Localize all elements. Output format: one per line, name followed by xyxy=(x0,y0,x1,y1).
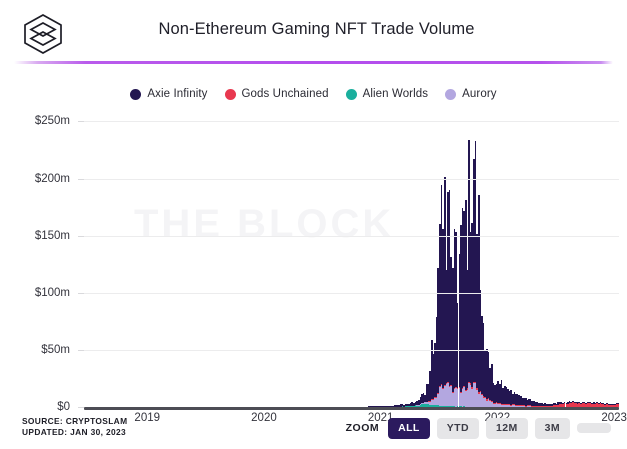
legend-item-axie-infinity[interactable]: Axie Infinity xyxy=(130,88,207,100)
header-divider xyxy=(14,61,613,64)
page-title: Non-Ethereum Gaming NFT Trade Volume xyxy=(0,20,627,39)
gridline xyxy=(84,121,619,122)
legend-label: Gods Unchained xyxy=(242,88,329,100)
legend-item-alien-worlds[interactable]: Alien Worlds xyxy=(346,88,429,100)
updated-line: UPDATED: JAN 30, 2023 xyxy=(22,427,127,438)
gridline xyxy=(84,350,619,351)
source-credit: SOURCE: CRYPTOSLAM UPDATED: JAN 30, 2023 xyxy=(22,416,127,438)
y-axis-tick xyxy=(78,350,84,351)
zoom-button-all[interactable]: ALL xyxy=(388,418,430,439)
y-axis-tick-label: $100m xyxy=(35,287,70,299)
legend-label: Alien Worlds xyxy=(363,88,429,100)
chart-card: Non-Ethereum Gaming NFT Trade Volume Axi… xyxy=(0,0,627,449)
y-axis-tick xyxy=(78,236,84,237)
bar-series-container xyxy=(84,110,619,407)
y-axis-tick xyxy=(78,179,84,180)
zoom-button-3m[interactable]: 3M xyxy=(535,418,570,439)
y-axis-tick xyxy=(78,121,84,122)
y-axis-tick-label: $0 xyxy=(57,401,70,413)
zoom-controls: ZOOM ALL YTD 12M 3M xyxy=(346,418,611,439)
y-axis-tick-label: $150m xyxy=(35,230,70,242)
gridline xyxy=(84,236,619,237)
legend-label: Aurory xyxy=(462,88,496,100)
source-line: SOURCE: CRYPTOSLAM xyxy=(22,416,127,427)
legend-swatch-icon xyxy=(346,89,357,100)
the-block-cube-logo-icon xyxy=(20,11,66,57)
chart-plot-area: $0$50m$100m$150m$200m$250m THE BLOCK xyxy=(0,110,627,410)
chart-footer: SOURCE: CRYPTOSLAM UPDATED: JAN 30, 2023… xyxy=(0,416,627,449)
y-axis-tick-label: $200m xyxy=(35,173,70,185)
gridline xyxy=(84,179,619,180)
legend-item-gods-unchained[interactable]: Gods Unchained xyxy=(225,88,329,100)
zoom-label: ZOOM xyxy=(346,422,380,434)
legend-item-aurory[interactable]: Aurory xyxy=(445,88,496,100)
y-axis-tick-label: $250m xyxy=(35,115,70,127)
legend-swatch-icon xyxy=(130,89,141,100)
chart-header: Non-Ethereum Gaming NFT Trade Volume xyxy=(0,0,627,58)
chart-bar-segment xyxy=(617,403,619,404)
x-axis-baseline xyxy=(84,407,619,410)
zoom-button-ytd[interactable]: YTD xyxy=(437,418,479,439)
y-axis-labels: $0$50m$100m$150m$200m$250m xyxy=(0,110,78,410)
legend-swatch-icon xyxy=(445,89,456,100)
gridline xyxy=(84,293,619,294)
chart-legend: Axie Infinity Gods Unchained Alien World… xyxy=(0,88,627,100)
plot-grid: THE BLOCK xyxy=(84,110,619,410)
y-axis-tick xyxy=(78,407,84,408)
legend-label: Axie Infinity xyxy=(147,88,207,100)
zoom-button-custom[interactable] xyxy=(577,423,611,433)
y-axis-tick-label: $50m xyxy=(41,344,70,356)
zoom-button-12m[interactable]: 12M xyxy=(486,418,528,439)
legend-swatch-icon xyxy=(225,89,236,100)
y-axis-tick xyxy=(78,293,84,294)
